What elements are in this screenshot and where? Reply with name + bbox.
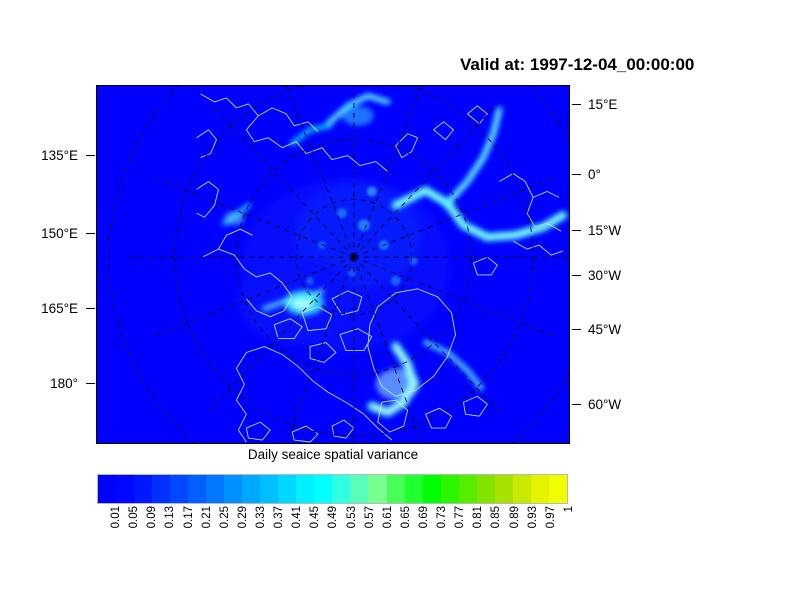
colorbar-band-25 <box>549 475 567 503</box>
axis-tick-left-1 <box>86 233 95 234</box>
axis-label-left-0: 135°E <box>0 148 78 163</box>
axis-tick-left-3 <box>86 383 95 384</box>
colorbar-band-20 <box>459 475 477 503</box>
axis-label-right-4: 45°W <box>588 322 621 337</box>
colorbar-band-16 <box>387 475 405 503</box>
colorbar-tick-20: 0.81 <box>472 506 484 528</box>
colorbar-tick-18: 0.73 <box>436 506 448 528</box>
colorbar-tick-17: 0.69 <box>418 506 430 528</box>
colorbar-band-21 <box>477 475 495 503</box>
axis-tick-right-2 <box>572 230 581 231</box>
axis-label-right-2: 15°W <box>588 223 621 238</box>
axis-label-right-1: 0° <box>588 167 601 182</box>
colorbar-band-2 <box>134 475 152 503</box>
colorbar-band-8 <box>242 475 260 503</box>
axis-label-left-3: 180° <box>0 376 78 391</box>
colorbar-band-3 <box>152 475 170 503</box>
colorbar-band-11 <box>296 475 314 503</box>
colorbar-tick-25: 1 <box>563 506 575 512</box>
axis-tick-left-0 <box>86 155 95 156</box>
colorbar-band-5 <box>188 475 206 503</box>
colorbar-tick-8: 0.33 <box>255 506 267 528</box>
colorbar-tick-23: 0.93 <box>527 506 539 528</box>
colorbar-tick-21: 0.85 <box>490 506 502 528</box>
colorbar <box>97 474 568 504</box>
colorbar-band-7 <box>224 475 242 503</box>
colorbar-tick-22: 0.89 <box>509 506 521 528</box>
axis-label-right-0: 15°E <box>588 97 617 112</box>
colorbar-tick-16: 0.65 <box>400 506 412 528</box>
axis-tick-right-5 <box>572 404 581 405</box>
colorbar-band-4 <box>170 475 188 503</box>
colorbar-band-15 <box>368 475 386 503</box>
colorbar-tick-2: 0.09 <box>146 506 158 528</box>
colorbar-tick-15: 0.61 <box>382 506 394 528</box>
map-plot-area <box>96 85 570 444</box>
colorbar-band-9 <box>260 475 278 503</box>
colorbar-band-22 <box>495 475 513 503</box>
colorbar-tick-24: 0.97 <box>545 506 557 528</box>
colorbar-band-19 <box>441 475 459 503</box>
colorbar-tick-14: 0.57 <box>364 506 376 528</box>
colorbar-tick-11: 0.45 <box>309 506 321 528</box>
colorbar-tick-7: 0.29 <box>237 506 249 528</box>
colorbar-gradient <box>97 474 568 504</box>
colorbar-band-0 <box>98 475 116 503</box>
axis-label-right-3: 30°W <box>588 268 621 283</box>
colorbar-band-24 <box>531 475 549 503</box>
axis-label-left-2: 165°E <box>0 301 78 316</box>
colorbar-tick-3: 0.13 <box>164 506 176 528</box>
axis-tick-right-4 <box>572 329 581 330</box>
colorbar-band-12 <box>314 475 332 503</box>
colorbar-tick-5: 0.21 <box>201 506 213 528</box>
axis-tick-right-3 <box>572 275 581 276</box>
axis-tick-right-0 <box>572 104 581 105</box>
axis-label-left-1: 150°E <box>0 226 78 241</box>
axis-label-right-5: 60°W <box>588 397 621 412</box>
colorbar-band-17 <box>405 475 423 503</box>
colorbar-band-10 <box>278 475 296 503</box>
colorbar-tick-13: 0.53 <box>346 506 358 528</box>
colorbar-tick-9: 0.37 <box>273 506 285 528</box>
colorbar-band-1 <box>116 475 134 503</box>
colorbar-tick-10: 0.41 <box>291 506 303 528</box>
colorbar-tick-4: 0.17 <box>183 506 195 528</box>
colorbar-tick-0: 0.01 <box>110 506 122 528</box>
colorbar-tick-19: 0.77 <box>454 506 466 528</box>
colorbar-band-6 <box>206 475 224 503</box>
axis-tick-left-2 <box>86 308 95 309</box>
colorbar-tick-6: 0.25 <box>219 506 231 528</box>
colorbar-tick-labels: 0.010.050.090.130.170.210.250.290.330.37… <box>97 506 568 566</box>
colorbar-band-23 <box>513 475 531 503</box>
colorbar-band-14 <box>350 475 368 503</box>
chart-caption: Daily seaice spatial variance <box>0 447 666 462</box>
colorbar-tick-1: 0.05 <box>128 506 140 528</box>
colorbar-tick-12: 0.49 <box>327 506 339 528</box>
colorbar-band-13 <box>332 475 350 503</box>
axis-tick-right-1 <box>572 174 581 175</box>
map-canvas <box>97 86 569 443</box>
colorbar-band-18 <box>423 475 441 503</box>
page-title: Valid at: 1997-12-04_00:00:00 <box>460 55 694 75</box>
